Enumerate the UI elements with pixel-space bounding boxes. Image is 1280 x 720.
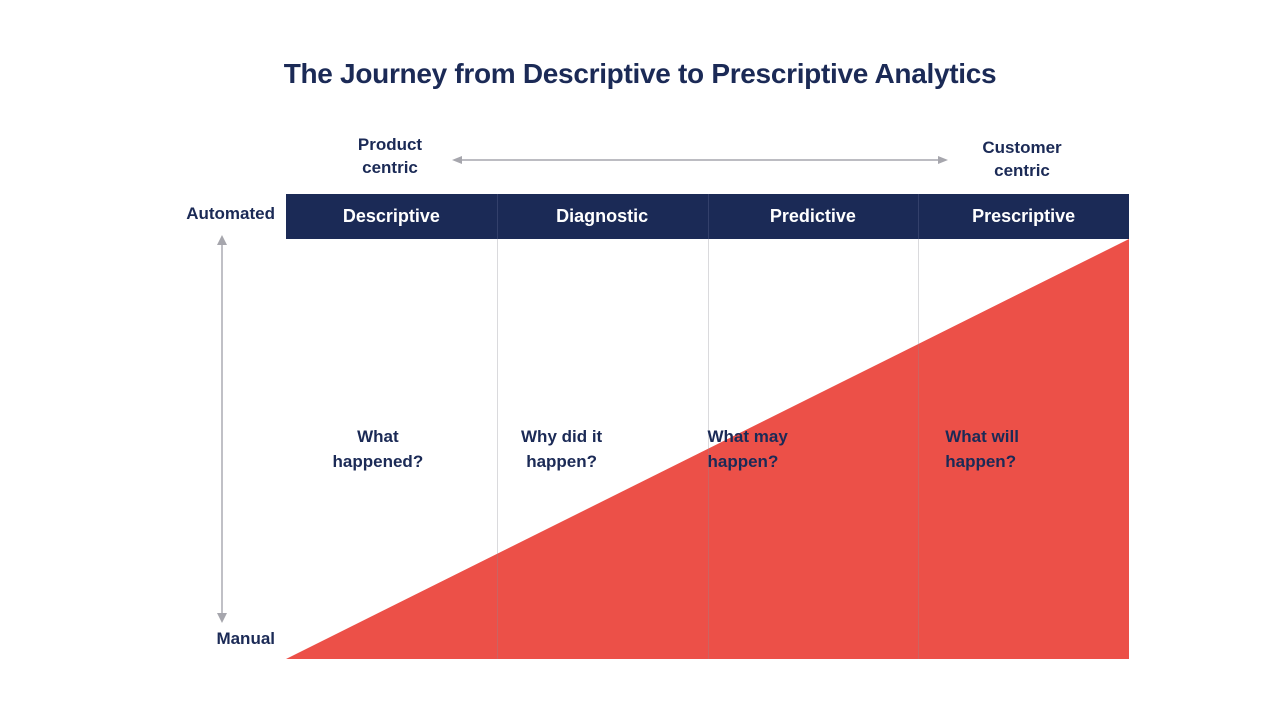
axis-label-manual: Manual	[140, 629, 275, 649]
product-centric-line2: centric	[315, 157, 465, 180]
axis-label-customer-centric: Customer centric	[947, 137, 1097, 182]
cell-predictive-line2: happen?	[708, 449, 788, 475]
cell-descriptive-line1: What	[333, 424, 424, 450]
cell-descriptive-text: What happened?	[333, 424, 424, 475]
column-header-predictive[interactable]: Predictive	[708, 194, 919, 239]
column-header-predictive-label: Predictive	[770, 206, 856, 227]
analytics-maturity-matrix: Descriptive Diagnostic Predictive Prescr…	[286, 194, 1129, 659]
vertical-axis: Automated Manual	[140, 195, 290, 665]
horizontal-axis: Product centric Customer centric	[0, 128, 1280, 190]
column-header-descriptive-label: Descriptive	[343, 206, 440, 227]
cell-prescriptive[interactable]: What will happen?	[891, 239, 1129, 659]
cell-predictive-line1: What may	[708, 424, 788, 450]
column-header-descriptive[interactable]: Descriptive	[286, 194, 497, 239]
vertical-double-arrow-icon	[213, 233, 231, 625]
cell-predictive-text: What may happen?	[708, 424, 788, 475]
column-header-prescriptive-label: Prescriptive	[972, 206, 1075, 227]
matrix-cells: What happened? Why did it happen? What m…	[286, 239, 1129, 659]
customer-centric-line2: centric	[947, 160, 1097, 183]
cell-diagnostic-line2: happen?	[521, 449, 602, 475]
cell-prescriptive-line2: happen?	[945, 449, 1019, 475]
matrix-body: What happened? Why did it happen? What m…	[286, 239, 1129, 659]
cell-descriptive[interactable]: What happened?	[286, 239, 470, 659]
matrix-header-row: Descriptive Diagnostic Predictive Prescr…	[286, 194, 1129, 239]
column-header-diagnostic[interactable]: Diagnostic	[497, 194, 708, 239]
page-title: The Journey from Descriptive to Prescrip…	[0, 58, 1280, 90]
cell-predictive[interactable]: What may happen?	[654, 239, 892, 659]
cell-prescriptive-text: What will happen?	[945, 424, 1019, 475]
cell-diagnostic-line1: Why did it	[521, 424, 602, 450]
column-header-diagnostic-label: Diagnostic	[556, 206, 648, 227]
product-centric-line1: Product	[315, 134, 465, 157]
cell-diagnostic-text: Why did it happen?	[521, 424, 602, 475]
customer-centric-line1: Customer	[947, 137, 1097, 160]
axis-label-product-centric: Product centric	[315, 134, 465, 179]
cell-diagnostic[interactable]: Why did it happen?	[470, 239, 654, 659]
cell-prescriptive-line1: What will	[945, 424, 1019, 450]
horizontal-double-arrow-icon	[450, 148, 950, 172]
column-header-prescriptive[interactable]: Prescriptive	[918, 194, 1129, 239]
axis-label-automated: Automated	[140, 204, 275, 224]
cell-descriptive-line2: happened?	[333, 449, 424, 475]
